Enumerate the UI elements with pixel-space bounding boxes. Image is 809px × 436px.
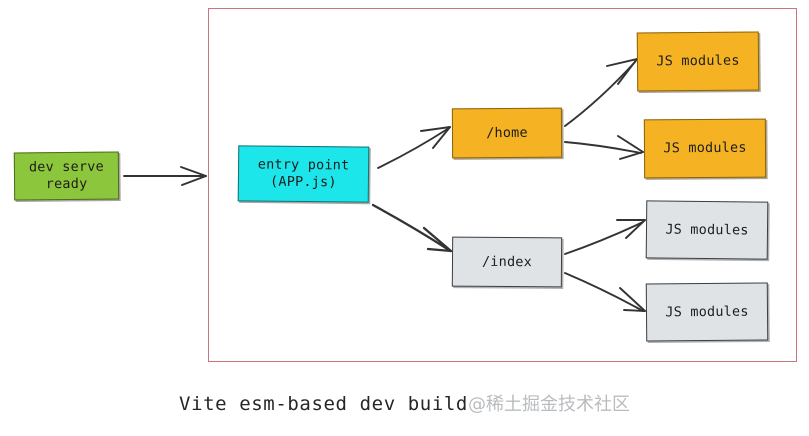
- node-js-modules-3[interactable]: JS modules: [646, 200, 769, 259]
- site-watermark: @稀土掘金技术社区: [468, 394, 630, 415]
- node-js-modules-2-label: JS modules: [663, 140, 746, 157]
- node-home-route[interactable]: /home: [452, 108, 562, 159]
- node-index-route-label: /index: [482, 253, 532, 270]
- node-js-modules-2[interactable]: JS modules: [644, 119, 766, 179]
- node-entry-point-label: entry point (APP.js): [258, 157, 350, 192]
- node-js-modules-1[interactable]: JS modules: [637, 31, 760, 91]
- node-js-modules-1-label: JS modules: [656, 53, 739, 71]
- edge-dev-serve-to-entry: [124, 167, 206, 185]
- diagram-caption-text: Vite esm-based dev build: [179, 393, 468, 415]
- node-dev-serve-ready[interactable]: dev serve ready: [14, 152, 119, 201]
- node-js-modules-3-label: JS modules: [665, 221, 748, 239]
- diagram-caption: Vite esm-based dev build@稀土掘金技术社区: [0, 390, 809, 416]
- diagram-canvas: dev serve ready entry point (APP.js) /ho…: [0, 0, 809, 436]
- node-index-route[interactable]: /index: [452, 237, 562, 288]
- node-home-route-label: /home: [486, 124, 528, 141]
- node-js-modules-4[interactable]: JS modules: [646, 282, 769, 341]
- node-dev-serve-ready-label: dev serve ready: [29, 159, 104, 193]
- node-entry-point[interactable]: entry point (APP.js): [238, 145, 370, 202]
- node-js-modules-4-label: JS modules: [665, 303, 748, 321]
